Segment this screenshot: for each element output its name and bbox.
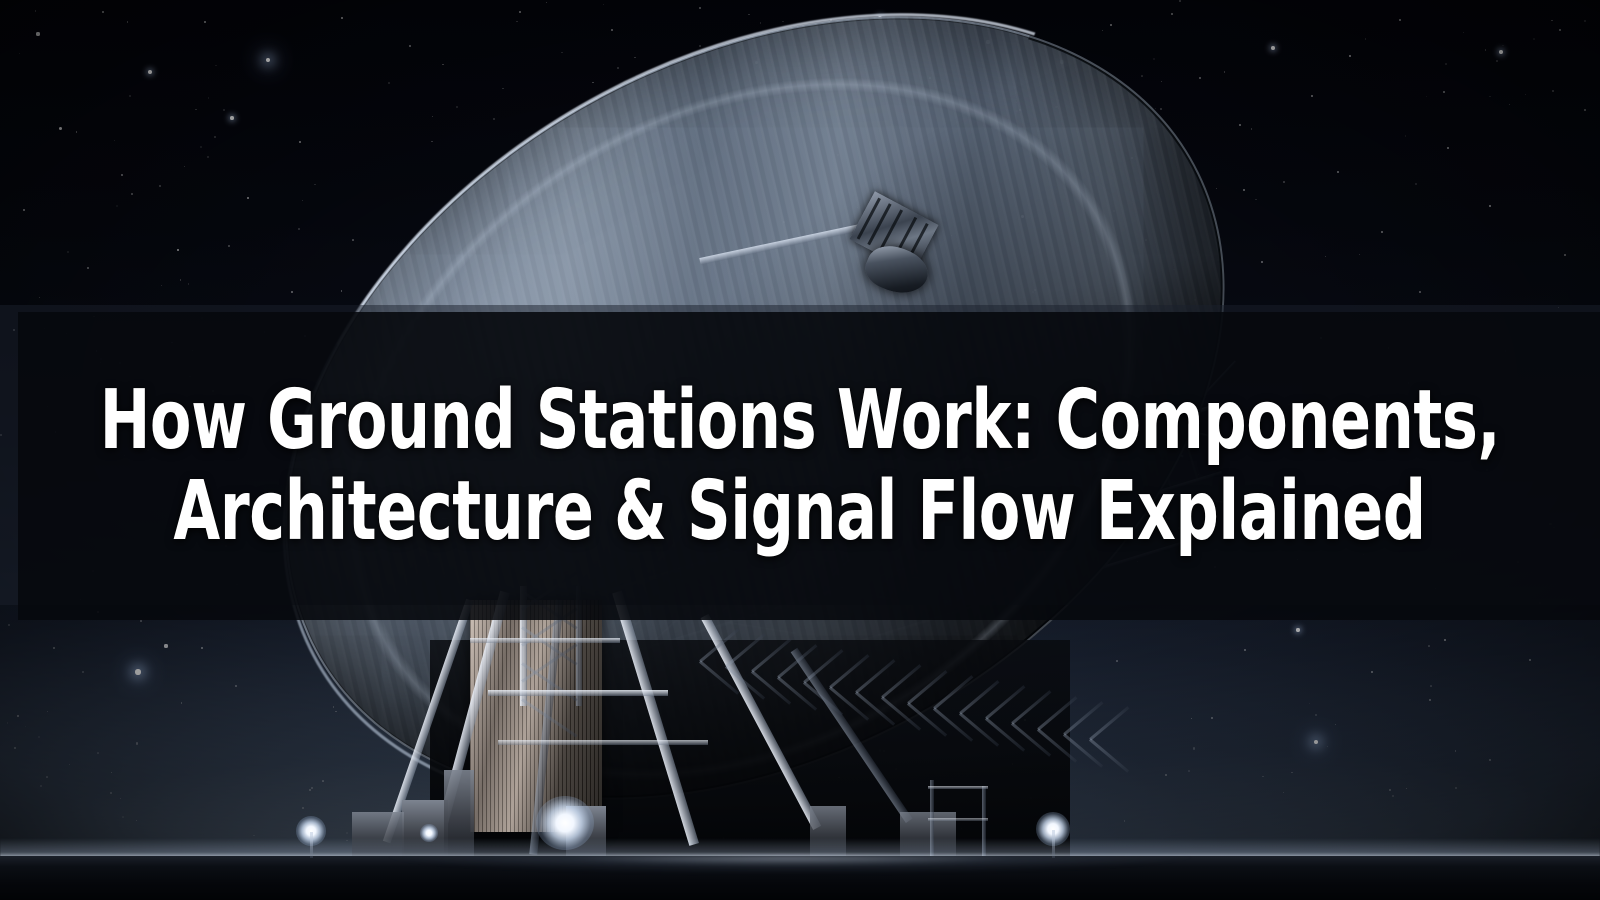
page-title: How Ground Stations Work: Components, Ar… xyxy=(18,312,1600,620)
tower-web xyxy=(1089,738,1129,772)
tower-platform xyxy=(498,740,708,745)
small-light xyxy=(420,824,438,842)
ground-reflection xyxy=(380,856,1200,874)
page-title-line-1: How Ground Stations Work: Components, xyxy=(100,378,1500,463)
service-gantry-rail xyxy=(928,786,988,789)
light-pole xyxy=(1052,830,1055,858)
tower-platform xyxy=(488,690,668,696)
light-pole xyxy=(310,832,313,858)
page-title-line-2: Architecture & Signal Flow Explained xyxy=(174,469,1426,554)
floodlight-center xyxy=(536,796,594,850)
service-gantry-rail xyxy=(928,818,988,821)
tower-platform xyxy=(470,638,620,643)
hero-image: How Ground Stations Work: Components, Ar… xyxy=(0,0,1600,900)
tower-web xyxy=(1089,706,1129,740)
